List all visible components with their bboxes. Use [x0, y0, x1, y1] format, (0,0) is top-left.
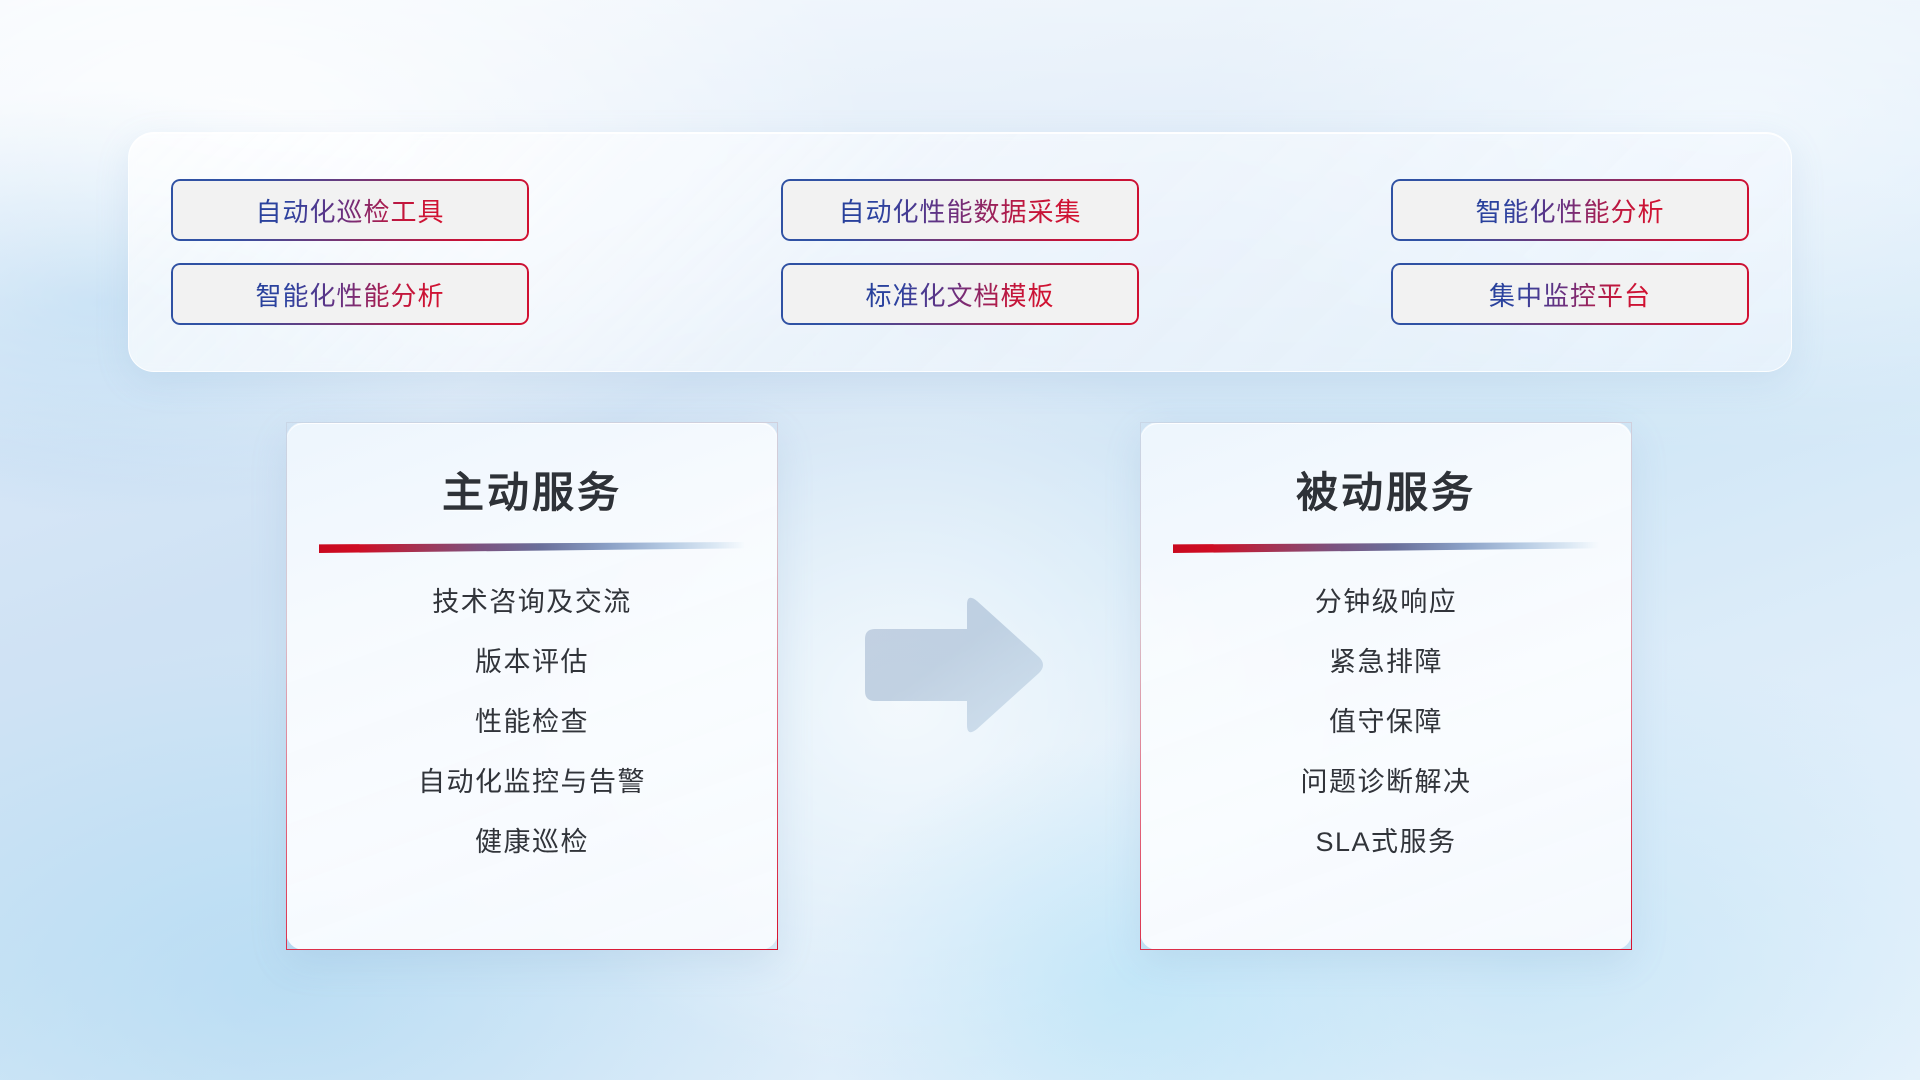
list-item: 版本评估 [475, 649, 589, 676]
card-title: 被动服务 [1296, 459, 1476, 520]
divider-wedge [1173, 542, 1599, 553]
card-item-list: 分钟级响应 紧急排障 值守保障 问题诊断解决 SLA式服务 [1141, 589, 1631, 856]
capability-row-2: 智能化性能分析 标准化文档模板 集中监控平台 [171, 263, 1749, 325]
arrow-right-icon [855, 593, 1047, 737]
capability-chip-label: 智能化性能分析 [255, 276, 444, 313]
capability-chip-intelligent-performance-analysis-2[interactable]: 智能化性能分析 [171, 263, 529, 325]
list-item: 技术咨询及交流 [432, 589, 632, 616]
capability-panel: 自动化巡检工具 自动化性能数据采集 智能化性能分析 智能化性能分析 标准化文档模… [128, 132, 1792, 372]
list-item: 性能检查 [475, 709, 589, 736]
capability-chip-label: 自动化性能数据采集 [838, 192, 1081, 229]
list-item: 健康巡检 [475, 829, 589, 856]
service-card-reactive: 被动服务 分钟级响应 紧急排障 值守保障 问题诊断解决 SLA式服务 [1140, 422, 1632, 950]
capability-chip-label: 集中监控平台 [1489, 276, 1651, 313]
card-title-divider [319, 542, 745, 553]
service-card-proactive: 主动服务 技术咨询及交流 版本评估 性能检查 自动化监控与告警 健康巡检 [286, 422, 778, 950]
list-item: 分钟级响应 [1315, 589, 1458, 616]
capability-chip-intelligent-performance-analysis[interactable]: 智能化性能分析 [1391, 179, 1749, 241]
card-item-list: 技术咨询及交流 版本评估 性能检查 自动化监控与告警 健康巡检 [287, 589, 777, 856]
list-item: 紧急排障 [1329, 649, 1443, 676]
capability-chip-centralized-monitoring-platform[interactable]: 集中监控平台 [1391, 263, 1749, 325]
list-item: SLA式服务 [1315, 829, 1456, 856]
capability-chip-auto-inspection-tool[interactable]: 自动化巡检工具 [171, 179, 529, 241]
capability-chip-label: 智能化性能分析 [1475, 192, 1664, 229]
capability-chip-label: 自动化巡检工具 [255, 192, 444, 229]
card-title: 主动服务 [442, 459, 622, 520]
list-item: 自动化监控与告警 [418, 769, 646, 796]
card-title-divider [1173, 542, 1599, 553]
list-item: 值守保障 [1329, 709, 1443, 736]
capability-chip-auto-performance-data-collection[interactable]: 自动化性能数据采集 [781, 179, 1139, 241]
capability-chip-label: 标准化文档模板 [865, 276, 1054, 313]
list-item: 问题诊断解决 [1301, 769, 1472, 796]
capability-chip-standard-doc-template[interactable]: 标准化文档模板 [781, 263, 1139, 325]
capability-row-1: 自动化巡检工具 自动化性能数据采集 智能化性能分析 [171, 179, 1749, 241]
divider-wedge [319, 542, 745, 553]
